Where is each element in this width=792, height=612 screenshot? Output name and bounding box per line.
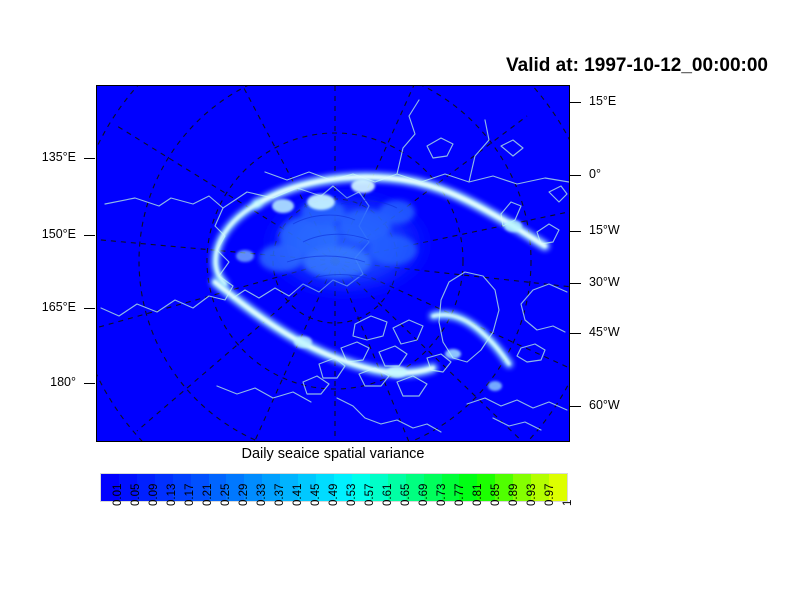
map-plot-area[interactable] <box>96 85 570 442</box>
colorbar-tick-9: 0.37 <box>275 484 287 506</box>
colorbar-tick-2: 0.09 <box>149 484 161 506</box>
colorbar-tick-19: 0.77 <box>455 484 467 506</box>
colorbar-tick-8: 0.33 <box>257 484 269 506</box>
axis-tick-mark-left-3 <box>84 383 95 384</box>
axis-tick-label-left-1: 150°E <box>10 228 76 241</box>
arctic-map <box>97 86 569 441</box>
axis-tick-label-left-2: 165°E <box>10 301 76 314</box>
colorbar-caption: Daily seaice spatial variance <box>96 446 570 462</box>
axis-tick-mark-right-3 <box>570 283 581 284</box>
colorbar-tick-17: 0.69 <box>419 484 431 506</box>
colorbar-tick-4: 0.17 <box>185 484 197 506</box>
page-title: Valid at: 1997-10-12_00:00:00 <box>0 55 768 77</box>
colorbar-tick-14: 0.57 <box>365 484 377 506</box>
axis-tick-label-right-4: 45°W <box>589 326 620 339</box>
colorbar-tick-3: 0.13 <box>167 484 179 506</box>
axis-tick-label-right-0: 15°E <box>589 95 616 108</box>
axis-tick-mark-right-2 <box>570 231 581 232</box>
axis-tick-label-right-2: 15°W <box>589 224 620 237</box>
axis-tick-label-right-3: 30°W <box>589 276 620 289</box>
axis-tick-label-right-5: 60°W <box>589 399 620 412</box>
colorbar-tick-21: 0.85 <box>491 484 503 506</box>
colorbar-tick-1: 0.05 <box>131 484 143 506</box>
colorbar-tick-12: 0.49 <box>329 484 341 506</box>
axis-tick-mark-right-0 <box>570 102 581 103</box>
colorbar-tick-25: 1 <box>563 500 575 506</box>
colorbar-tick-0: 0.01 <box>113 484 125 506</box>
colorbar-tick-18: 0.73 <box>437 484 449 506</box>
axis-tick-mark-right-1 <box>570 175 581 176</box>
colorbar-tick-22: 0.89 <box>509 484 521 506</box>
colorbar-tick-7: 0.29 <box>239 484 251 506</box>
axis-tick-mark-left-0 <box>84 158 95 159</box>
colorbar-tick-15: 0.61 <box>383 484 395 506</box>
axis-tick-mark-right-4 <box>570 333 581 334</box>
axis-tick-mark-left-1 <box>84 235 95 236</box>
colorbar-tick-10: 0.41 <box>293 484 305 506</box>
colorbar-tick-20: 0.81 <box>473 484 485 506</box>
colorbar-tick-11: 0.45 <box>311 484 323 506</box>
axis-tick-label-right-1: 0° <box>589 168 601 181</box>
colorbar-tick-6: 0.25 <box>221 484 233 506</box>
colorbar-tick-13: 0.53 <box>347 484 359 506</box>
colorbar-tick-5: 0.21 <box>203 484 215 506</box>
axis-tick-mark-left-2 <box>84 308 95 309</box>
axis-tick-label-left-0: 135°E <box>10 151 76 164</box>
colorbar-tick-23: 0.93 <box>527 484 539 506</box>
colorbar-tick-labels: 0.010.050.090.130.170.210.250.290.330.37… <box>100 503 568 563</box>
axis-tick-label-left-3: 180° <box>10 376 76 389</box>
axis-tick-mark-right-5 <box>570 406 581 407</box>
colorbar-tick-24: 0.97 <box>545 484 557 506</box>
colorbar-tick-16: 0.65 <box>401 484 413 506</box>
